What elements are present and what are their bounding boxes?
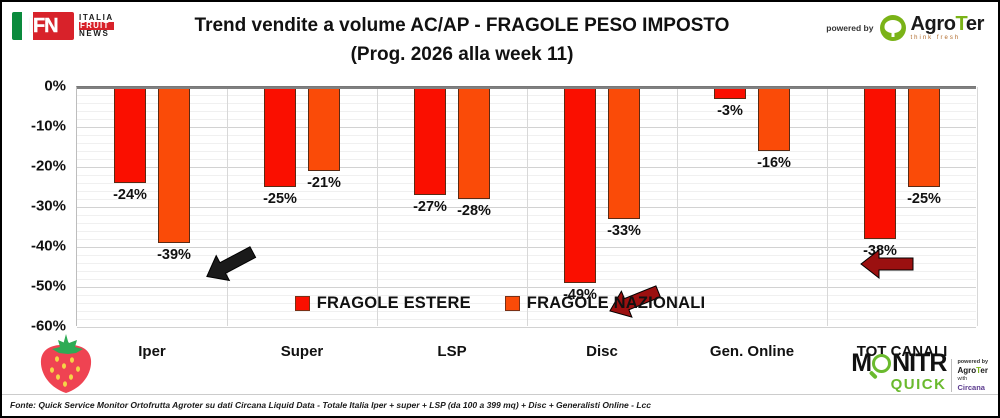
bar-lsp-nazionali[interactable] <box>458 87 490 199</box>
gridline <box>77 327 976 328</box>
chart-legend: FRAGOLE ESTEREFRAGOLE NAZIONALI <box>2 294 998 313</box>
monitor-agroter-1: Agro <box>957 366 976 375</box>
bar-value-label: -33% <box>596 223 652 239</box>
bar-group: -25%-21% <box>227 87 377 326</box>
bar-value-label: -24% <box>102 187 158 203</box>
bar-value-label: -25% <box>252 191 308 207</box>
bar-disc-nazionali[interactable] <box>608 87 640 219</box>
ifn-badge: IFN <box>12 12 74 40</box>
magnifier-icon <box>872 354 891 373</box>
powered-by-agroter: powered by AgroTer think fresh <box>826 14 984 41</box>
legend-item-fragole-nazionali[interactable]: FRAGOLE NAZIONALI <box>505 294 705 313</box>
monitor-word-r: R <box>929 351 946 376</box>
page-title: Trend vendite a volume AC/AP - FRAGOLE P… <box>152 12 772 69</box>
bar-group: -3%-16% <box>677 87 827 326</box>
y-axis-tick-label: -20% <box>4 158 66 175</box>
bar-value-label: -21% <box>296 175 352 191</box>
y-axis-tick-label: -30% <box>4 198 66 215</box>
monitor-powered-by: powered by <box>957 359 988 366</box>
bar-value-label: -28% <box>446 203 502 219</box>
monitor-with: with <box>957 376 988 383</box>
x-axis-category-iper: Iper <box>77 343 227 360</box>
ifn-logo: IFN ITALIA FRUIT NEWS <box>12 9 120 43</box>
bar-lsp-estere[interactable] <box>414 87 446 195</box>
y-axis-tick-label: -10% <box>4 118 66 135</box>
ifn-badge-text: IFN <box>28 15 57 38</box>
source-note: Fonte: Quick Service Monitor Ortofrutta … <box>10 400 651 410</box>
bar-group: -38%-25% <box>827 87 977 326</box>
legend-swatch <box>505 296 520 311</box>
powered-by-label: powered by <box>826 23 873 33</box>
monitor-agroter-3: er <box>980 366 988 375</box>
bar-group: -27%-28% <box>377 87 527 326</box>
title-line-1: Trend vendite a volume AC/AP - FRAGOLE P… <box>152 12 772 41</box>
agroter-name-part2: T <box>956 13 966 35</box>
title-line-2: (Prog. 2026 alla week 11) <box>152 41 772 70</box>
bar-gen-online-nazionali[interactable] <box>758 87 790 151</box>
bar-iper-estere[interactable] <box>114 87 146 183</box>
bar-super-estere[interactable] <box>264 87 296 187</box>
legend-label: FRAGOLE ESTERE <box>317 294 471 313</box>
monitor-credits: powered by AgroTer with Circana <box>951 359 988 392</box>
agroter-name: AgroTer <box>910 14 984 34</box>
monitor-word: MNITR <box>851 351 946 376</box>
legend-item-fragole-estere[interactable]: FRAGOLE ESTERE <box>295 294 471 313</box>
bar-chart: -24%-39%Iper-25%-21%Super-27%-28%LSP-49%… <box>2 74 998 416</box>
strawberry-icon <box>38 332 94 394</box>
bar-group: -24%-39% <box>77 87 227 326</box>
legend-swatch <box>295 296 310 311</box>
x-axis-category-gen-online: Gen. Online <box>677 343 827 360</box>
bar-tot-canali-estere[interactable] <box>864 87 896 239</box>
bar-value-label: -16% <box>746 155 802 171</box>
bar-value-label: -39% <box>146 247 202 263</box>
y-axis-tick-label: 0% <box>4 78 66 95</box>
legend-label: FRAGOLE NAZIONALI <box>527 294 705 313</box>
monitor-quick-wordmark: MNITR QUICK <box>851 351 946 392</box>
agroter-wordmark: AgroTer think fresh <box>910 14 984 41</box>
y-axis-tick-label: -40% <box>4 238 66 255</box>
ifn-wordmark: ITALIA FRUIT NEWS <box>79 14 114 38</box>
quick-word: QUICK <box>851 377 946 392</box>
header: IFN ITALIA FRUIT NEWS Trend vendite a vo… <box>2 2 998 74</box>
agroter-name-part1: Agro <box>910 13 955 35</box>
bar-iper-nazionali[interactable] <box>158 87 190 243</box>
footer: Fonte: Quick Service Monitor Ortofrutta … <box>2 394 998 416</box>
bar-value-label: -3% <box>702 103 758 119</box>
x-axis-category-super: Super <box>227 343 377 360</box>
zero-baseline <box>77 87 976 89</box>
ifn-word-news: NEWS <box>79 30 114 38</box>
bar-value-label: -25% <box>896 191 952 207</box>
agroter-logo: AgroTer think fresh <box>880 14 984 41</box>
plot-area: -24%-39%Iper-25%-21%Super-27%-28%LSP-49%… <box>76 86 976 326</box>
chart-slide: IFN ITALIA FRUIT NEWS Trend vendite a vo… <box>0 0 1000 418</box>
bar-disc-estere[interactable] <box>564 87 596 283</box>
arrow-tot-estere <box>859 247 915 286</box>
x-axis-category-lsp: LSP <box>377 343 527 360</box>
monitor-word-nit: NIT <box>892 351 929 376</box>
bar-tot-canali-nazionali[interactable] <box>908 87 940 187</box>
agroter-name-part3: er <box>966 13 984 35</box>
bar-super-nazionali[interactable] <box>308 87 340 171</box>
monitor-circana: Circana <box>957 383 988 392</box>
tree-icon <box>880 15 906 41</box>
agroter-tagline: think fresh <box>910 35 984 41</box>
x-axis-category-disc: Disc <box>527 343 677 360</box>
category-separator <box>977 87 978 326</box>
monitor-quick-logo: MNITR QUICK powered by AgroTer with Circ… <box>851 351 988 392</box>
y-axis-tick-label: -50% <box>4 278 66 295</box>
monitor-agroter: AgroTer <box>957 366 988 376</box>
